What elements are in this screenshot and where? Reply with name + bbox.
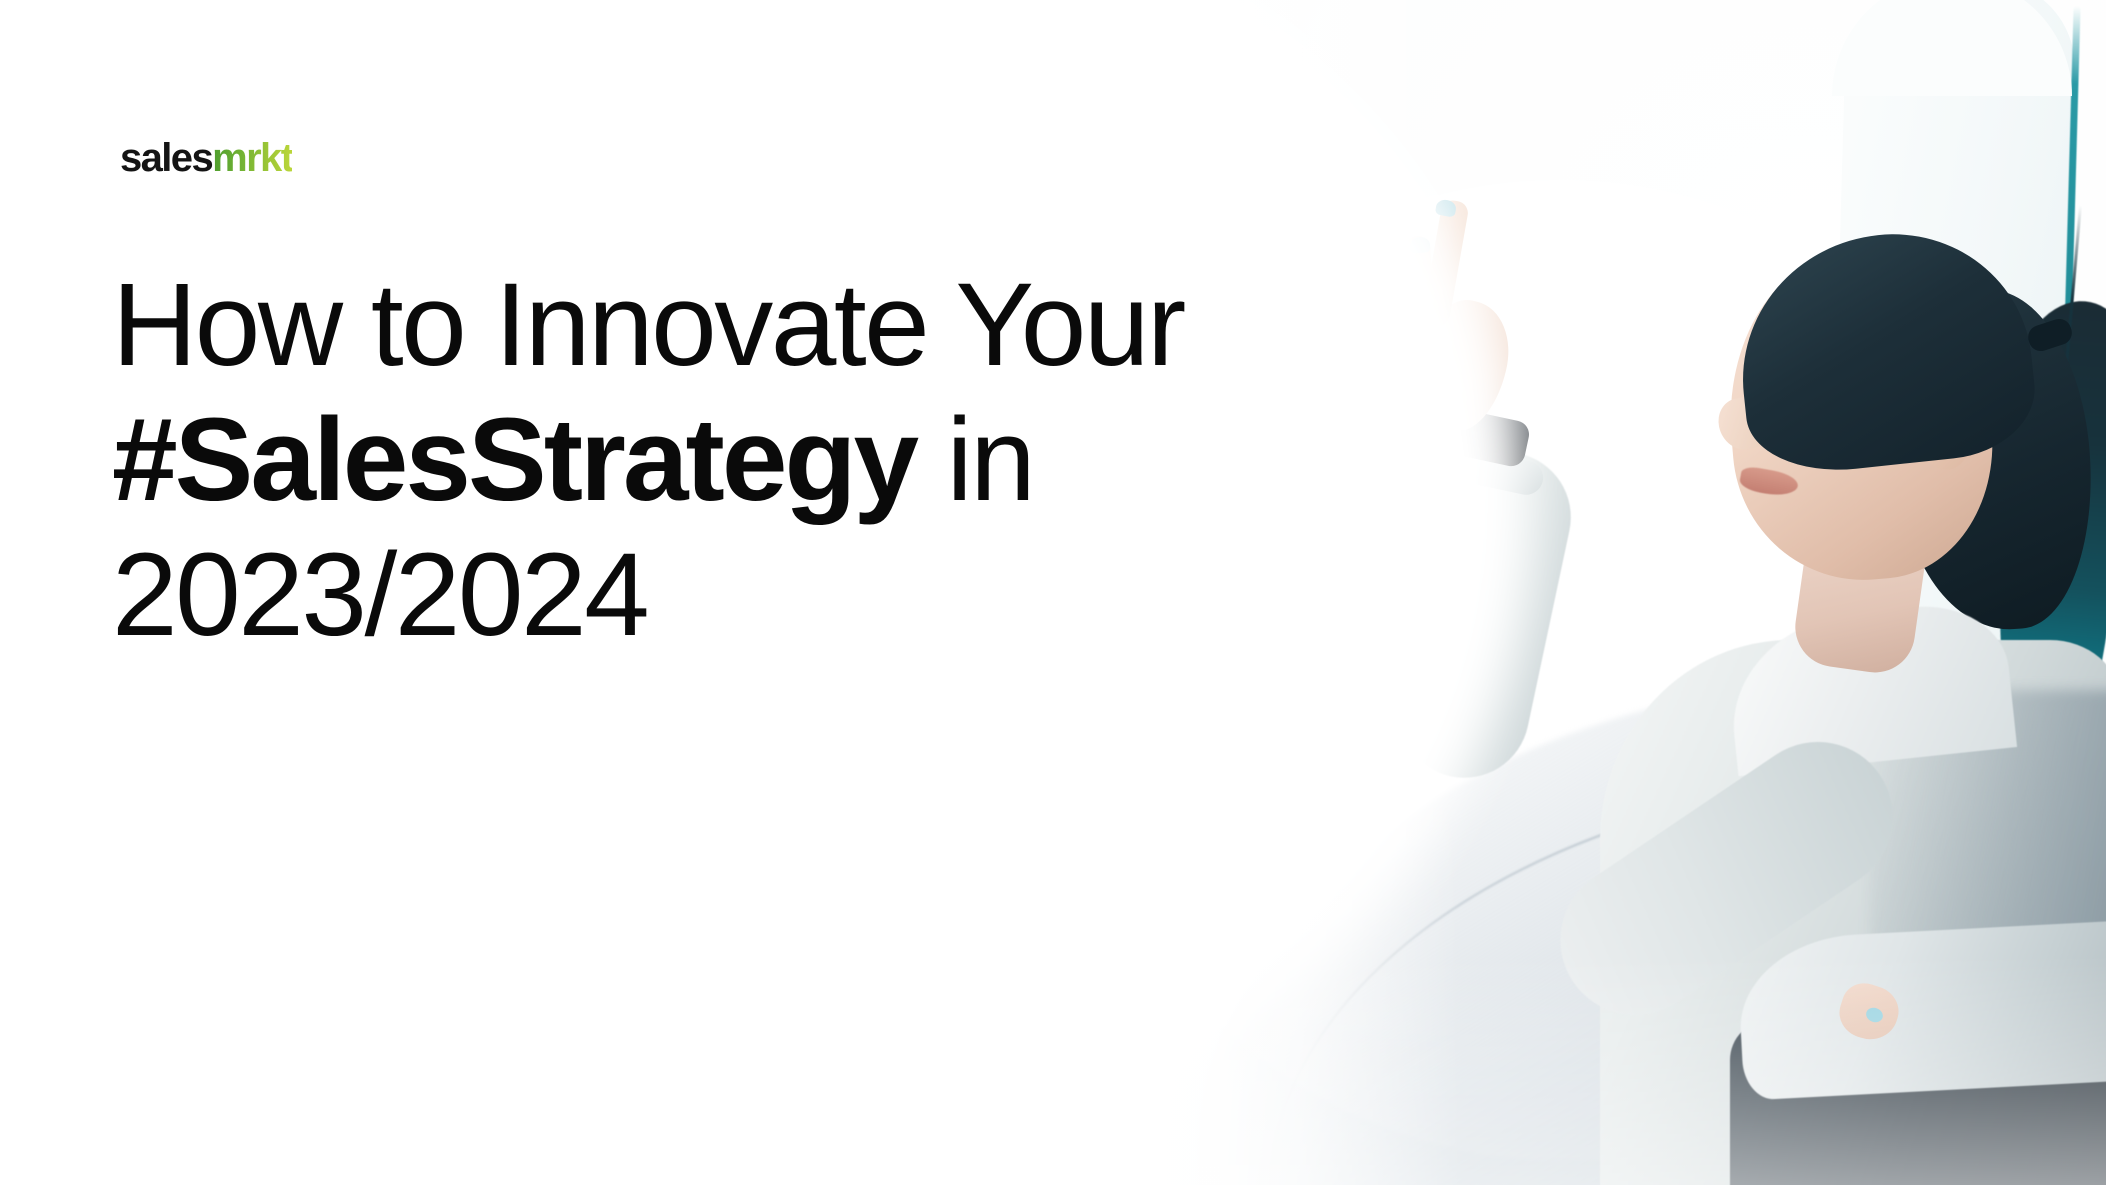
brand-logo[interactable]: salesmrkt [120,138,292,178]
headline-line-3: 2023/2024 [112,528,1352,663]
headline-years: 2023/2024 [112,529,647,661]
headline-line-1-text: How to Innovate Your [112,259,1184,391]
slide-canvas: salesmrkt How to Innovate Your #SalesStr… [0,0,2106,1185]
headline-line-1: How to Innovate Your [112,258,1352,393]
hair-crown [1729,220,2041,479]
photo-bottom-fade [1040,955,2106,1185]
logo-text-sales: sales [120,136,212,180]
logo-text-mrkt: mrkt [212,136,292,180]
headline-hashtag: #SalesStrategy [112,394,916,526]
page-title: How to Innovate Your #SalesStrategy in 2… [112,258,1352,663]
headline-line-2-tail: in [916,394,1033,526]
headline-line-2: #SalesStrategy in [112,393,1352,528]
